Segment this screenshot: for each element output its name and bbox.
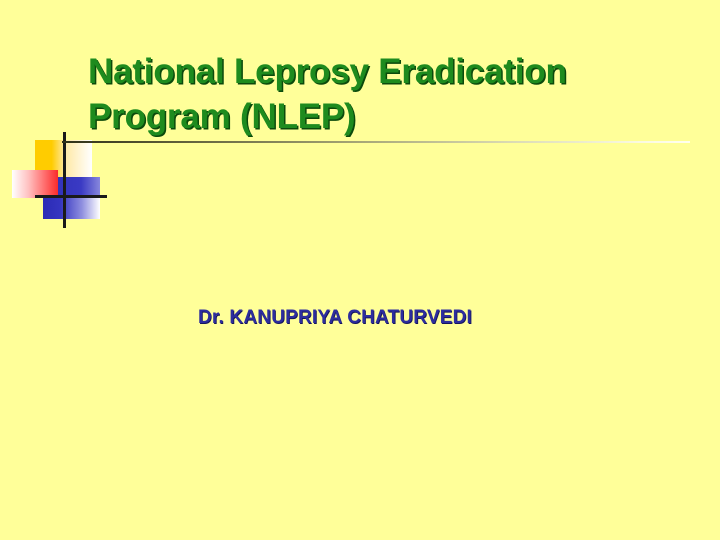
title-divider-rule <box>62 141 690 143</box>
decorative-horizontal-rule <box>35 195 107 198</box>
decorative-yellow-fade-block <box>66 140 92 178</box>
slide-title: National Leprosy Eradication Program (NL… <box>88 50 698 140</box>
slide-subtitle-presenter: Dr. KANUPRIYA CHATURVEDI <box>198 307 472 329</box>
slide-canvas: National Leprosy Eradication Program (NL… <box>0 0 720 540</box>
decorative-vertical-rule <box>63 132 66 228</box>
decorative-blue-lower-square <box>43 197 100 219</box>
decorative-red-square <box>12 170 58 198</box>
